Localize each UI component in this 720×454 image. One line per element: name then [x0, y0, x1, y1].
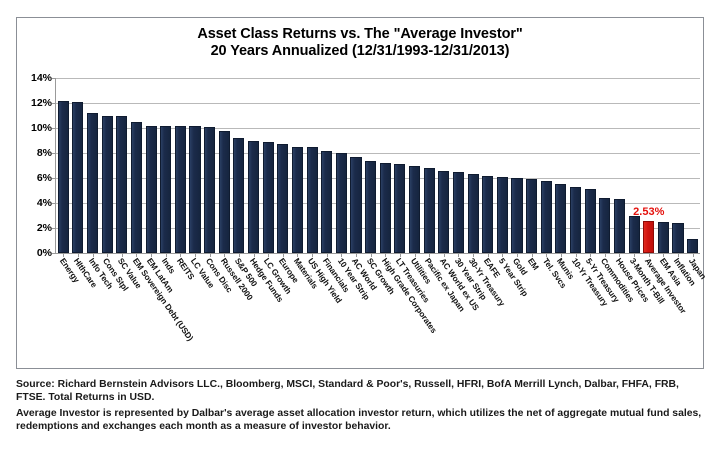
chart-title: Asset Class Returns vs. The "Average Inv… — [17, 26, 703, 60]
plot-wrapper: 0%2%4%6%8%10%12%14% 2.53% — [55, 78, 700, 254]
chart-title-line-1: Asset Class Returns vs. The "Average Inv… — [197, 26, 522, 42]
bars-group — [56, 78, 700, 253]
bar-slot[interactable] — [334, 78, 349, 253]
bar[interactable] — [585, 189, 596, 253]
bar[interactable] — [248, 141, 259, 254]
bar-slot[interactable] — [393, 78, 408, 253]
bar[interactable] — [511, 178, 522, 253]
bar[interactable] — [307, 147, 318, 253]
bar-slot[interactable] — [56, 78, 71, 253]
bar-slot[interactable] — [671, 78, 686, 253]
bar-slot[interactable] — [100, 78, 115, 253]
bar[interactable] — [204, 127, 215, 253]
chart-title-line-2: 20 Years Annualized (12/31/1993-12/31/20… — [17, 43, 703, 60]
bar[interactable] — [541, 181, 552, 254]
bar-slot[interactable] — [510, 78, 525, 253]
bar-slot[interactable] — [407, 78, 422, 253]
bar-slot[interactable] — [276, 78, 291, 253]
bar[interactable] — [482, 176, 493, 254]
bar-value-annotation: 2.53% — [633, 206, 664, 218]
bar[interactable] — [160, 126, 171, 254]
bar-slot[interactable] — [129, 78, 144, 253]
bar[interactable] — [233, 138, 244, 253]
bar[interactable] — [468, 174, 479, 253]
bar[interactable] — [58, 101, 69, 254]
footnote: Source: Richard Bernstein Advisors LLC.,… — [16, 378, 708, 434]
y-axis-tick-label: 4% — [37, 197, 52, 209]
bar-slot[interactable] — [480, 78, 495, 253]
y-axis-tick-label: 14% — [31, 72, 52, 84]
bar[interactable] — [350, 157, 361, 253]
bar[interactable] — [409, 166, 420, 254]
bar[interactable] — [72, 102, 83, 253]
bar[interactable] — [497, 177, 508, 253]
bar[interactable] — [570, 187, 581, 253]
y-axis-tick-label: 8% — [37, 147, 52, 159]
bar-slot[interactable] — [246, 78, 261, 253]
bar-slot[interactable] — [583, 78, 598, 253]
bar[interactable] — [277, 144, 288, 253]
bar[interactable] — [687, 239, 698, 253]
bar[interactable] — [189, 126, 200, 254]
bar-slot[interactable] — [627, 78, 642, 253]
bar-slot[interactable] — [524, 78, 539, 253]
y-axis-tick-label: 12% — [31, 97, 52, 109]
bar[interactable] — [175, 126, 186, 254]
bar-slot[interactable] — [173, 78, 188, 253]
bar[interactable] — [643, 221, 654, 253]
y-axis-tick-label: 2% — [37, 222, 52, 234]
bar-slot[interactable] — [539, 78, 554, 253]
bar-slot[interactable] — [451, 78, 466, 253]
bar-slot[interactable] — [217, 78, 232, 253]
chart-frame: Asset Class Returns vs. The "Average Inv… — [16, 17, 704, 369]
plot-area: 0%2%4%6%8%10%12%14% 2.53% — [55, 78, 700, 254]
bar[interactable] — [131, 122, 142, 253]
bar[interactable] — [526, 179, 537, 253]
footnote-source: Source: Richard Bernstein Advisors LLC.,… — [16, 378, 708, 405]
y-axis-tick-label: 10% — [31, 122, 52, 134]
bar[interactable] — [438, 171, 449, 254]
bar-slot[interactable] — [598, 78, 613, 253]
bar-slot[interactable] — [319, 78, 334, 253]
bar-slot[interactable] — [188, 78, 203, 253]
bar-slot[interactable] — [554, 78, 569, 253]
bar-slot[interactable] — [349, 78, 364, 253]
bar-slot[interactable] — [232, 78, 247, 253]
bar-slot[interactable] — [85, 78, 100, 253]
bar-slot[interactable] — [202, 78, 217, 253]
bar-slot[interactable] — [378, 78, 393, 253]
bar[interactable] — [219, 131, 230, 254]
bar-slot[interactable] — [363, 78, 378, 253]
bar-slot[interactable] — [144, 78, 159, 253]
bar-slot[interactable] — [466, 78, 481, 253]
y-axis-tick-mark — [52, 253, 56, 254]
bar-slot[interactable] — [656, 78, 671, 253]
bar-slot[interactable] — [71, 78, 86, 253]
bar-slot[interactable] — [641, 78, 656, 253]
bar-slot[interactable] — [568, 78, 583, 253]
footnote-average-investor-note: Average Investor is represented by Dalba… — [16, 407, 708, 434]
y-axis-tick-label: 0% — [37, 247, 52, 259]
bar[interactable] — [599, 198, 610, 253]
bar-slot[interactable] — [261, 78, 276, 253]
bar[interactable] — [321, 151, 332, 254]
bar[interactable] — [672, 223, 683, 253]
bar-slot[interactable] — [305, 78, 320, 253]
bar-slot[interactable] — [495, 78, 510, 253]
bar-slot[interactable] — [290, 78, 305, 253]
bar[interactable] — [453, 172, 464, 253]
x-axis-labels: EnergyHlthCareInfo TechCons StplSC Value… — [55, 256, 700, 366]
bar[interactable] — [380, 163, 391, 253]
bar-slot[interactable] — [422, 78, 437, 253]
bar[interactable] — [394, 164, 405, 253]
bar[interactable] — [555, 184, 566, 253]
bar-slot[interactable] — [115, 78, 130, 253]
bar-slot[interactable] — [437, 78, 452, 253]
y-axis-tick-label: 6% — [37, 172, 52, 184]
bar[interactable] — [146, 126, 157, 254]
bar[interactable] — [87, 113, 98, 253]
bar[interactable] — [629, 216, 640, 254]
bar[interactable] — [102, 116, 113, 254]
bar-slot[interactable] — [158, 78, 173, 253]
bar[interactable] — [116, 116, 127, 254]
bar[interactable] — [336, 153, 347, 253]
bar[interactable] — [292, 147, 303, 253]
bar-slot[interactable] — [612, 78, 627, 253]
bar[interactable] — [365, 161, 376, 254]
bar[interactable] — [614, 199, 625, 253]
bar[interactable] — [658, 222, 669, 253]
bar[interactable] — [424, 168, 435, 253]
bar[interactable] — [263, 142, 274, 253]
bar-slot[interactable] — [685, 78, 700, 253]
chart-page: Asset Class Returns vs. The "Average Inv… — [0, 0, 720, 454]
